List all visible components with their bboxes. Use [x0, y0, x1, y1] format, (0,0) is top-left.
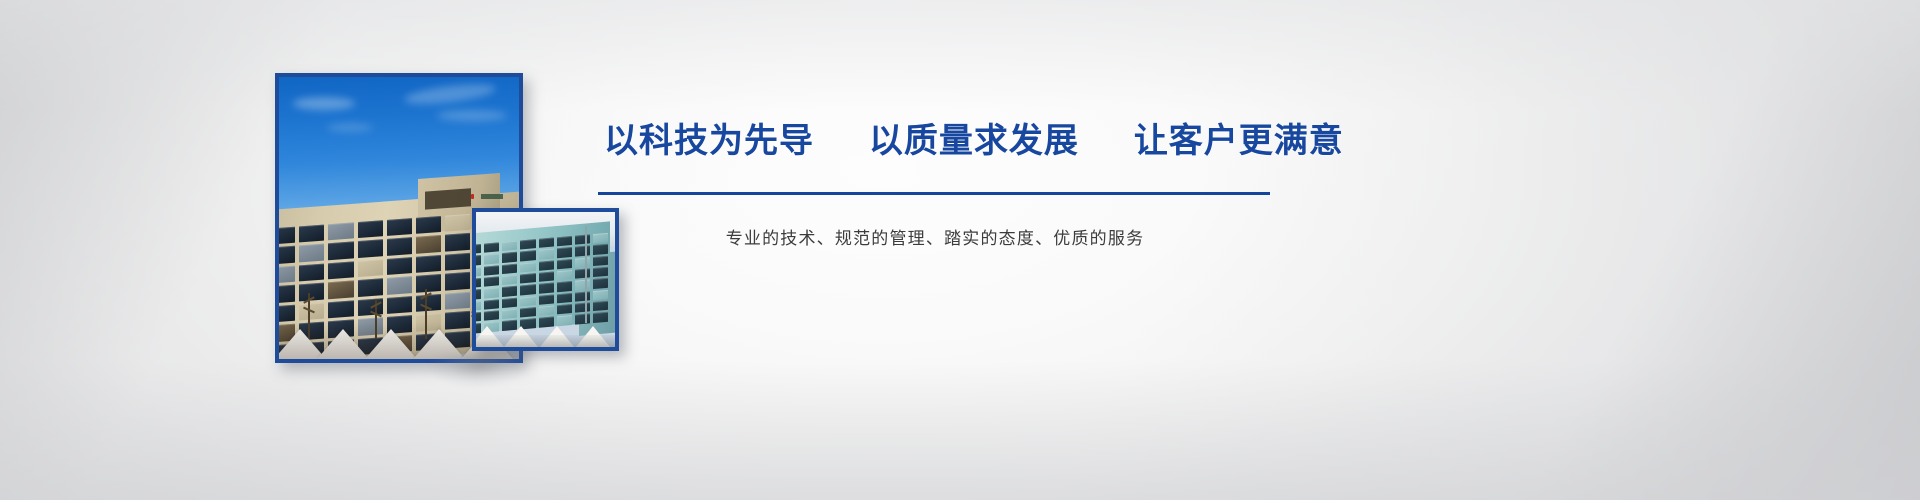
- cloud-shape: [403, 81, 496, 108]
- penthouse-opening: [425, 188, 471, 210]
- light-pole: [585, 226, 587, 323]
- headline-segment-3: 让客户更满意: [1134, 120, 1344, 164]
- foreground-shade: [476, 335, 615, 347]
- banner-headline: 以科技为先导 以质量求发展 让客户更满意: [598, 120, 1288, 164]
- roof-sign-logo: [471, 194, 474, 199]
- hero-banner: 以科技为先导 以质量求发展 让客户更满意 专业的技术、规范的管理、踏实的态度、优…: [0, 0, 1920, 500]
- banner-subtitle: 专业的技术、规范的管理、踏实的态度、优质的服务: [598, 225, 1288, 252]
- window-grid: [476, 230, 612, 338]
- cloud-shape: [437, 110, 507, 121]
- photo-drop-shadow: [430, 352, 526, 398]
- photo-secondary-scene: [476, 212, 615, 347]
- roof-sign-text: [481, 194, 503, 199]
- headline-segment-1: 以科技为先导: [604, 120, 814, 164]
- headline-segment-2: 以质量求发展: [869, 120, 1079, 164]
- cloud-shape: [327, 123, 373, 132]
- headline-divider-rule: [598, 192, 1270, 195]
- banner-copy: 以科技为先导 以质量求发展 让客户更满意 专业的技术、规范的管理、踏实的态度、优…: [598, 120, 1288, 252]
- photo-secondary-building[interactable]: [472, 208, 619, 351]
- cloud-shape: [293, 97, 355, 110]
